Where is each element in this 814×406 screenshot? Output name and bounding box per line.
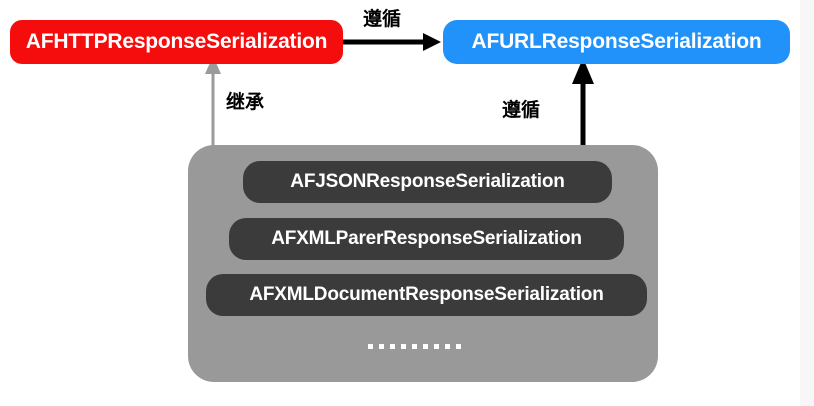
node-afxmldocumentresponseserialization[interactable]: AFXMLDocumentResponseSerialization <box>206 274 647 316</box>
node-afhttpresponseserialization[interactable]: AFHTTPResponseSerialization <box>10 20 343 64</box>
ellipsis-dot <box>445 344 450 349</box>
right-edge-strip <box>800 0 814 406</box>
ellipsis-dot <box>401 344 406 349</box>
ellipsis-dot <box>368 344 373 349</box>
node-afjsonresponseserialization[interactable]: AFJSONResponseSerialization <box>243 161 612 203</box>
ellipsis-dot <box>412 344 417 349</box>
ellipsis-dot <box>456 344 461 349</box>
arrow-group-to-http <box>205 56 221 155</box>
diagram-canvas: 遵循 继承 遵循 AFHTTPResponseSerialization AFU… <box>0 0 814 406</box>
more-subclasses-ellipsis <box>368 344 461 349</box>
ellipsis-dot <box>379 344 384 349</box>
edge-label-conform-vertical: 遵循 <box>502 95 540 122</box>
ellipsis-dot <box>434 344 439 349</box>
edge-label-conform-horizontal: 遵循 <box>363 4 401 31</box>
ellipsis-dot <box>423 344 428 349</box>
node-afurlresponseserialization[interactable]: AFURLResponseSerialization <box>443 20 790 64</box>
edge-label-inherit: 继承 <box>226 87 264 114</box>
ellipsis-dot <box>390 344 395 349</box>
node-afxmlparerresponseserialization[interactable]: AFXMLParerResponseSerialization <box>229 218 624 260</box>
arrow-http-to-url <box>343 33 441 51</box>
